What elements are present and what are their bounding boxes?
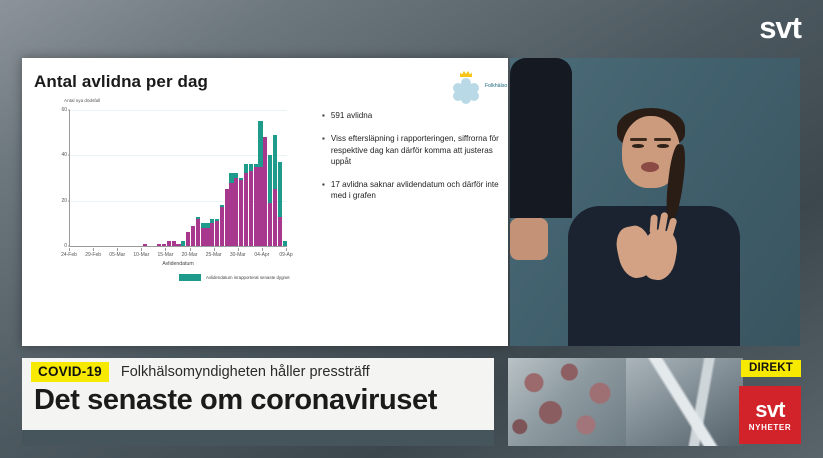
chart-bar: [283, 241, 287, 246]
coronavirus-thumbnail: [508, 358, 626, 446]
chart-bar: [162, 244, 166, 246]
folkhalsomyndigheten-logo: Folkhälso: [449, 70, 505, 104]
presentation-slide: Antal avlidna per dag Folkhälso Antal ny…: [22, 58, 508, 346]
logo-petal: [461, 94, 471, 104]
bar-segment-last-day: [244, 164, 248, 173]
bullet-marker-icon: ▪: [322, 179, 325, 202]
y-axis-tick-label: 60: [61, 107, 67, 113]
chart-bar: [186, 232, 190, 246]
chart-bar: [273, 135, 277, 246]
bar-segment-previous: [205, 228, 209, 246]
x-axis-tick-mark: [117, 248, 118, 251]
chart-legend: Avlidendatum inrapporterat senaste dygne…: [69, 274, 299, 281]
bar-segment-previous: [278, 217, 282, 246]
bar-segment-previous: [229, 183, 233, 246]
bar-segment-previous: [176, 244, 180, 246]
chart-bar: [167, 241, 171, 246]
x-axis-tick-mark: [141, 248, 142, 251]
y-axis-tick-label: 0: [64, 243, 67, 249]
bar-segment-last-day: [273, 135, 277, 189]
bar-segment-previous: [258, 167, 262, 246]
chart-bar: [239, 178, 243, 246]
bar-segment-last-day: [254, 164, 258, 166]
chart-bar: [201, 223, 205, 246]
chart-bar: [220, 205, 224, 246]
eye: [632, 144, 644, 148]
slide-bullet: ▪17 avlidna saknar avlidendatum och därf…: [322, 179, 502, 202]
y-axis-label: Antal nya dödsfall: [64, 98, 100, 103]
x-axis-tick-mark: [93, 248, 94, 251]
x-axis-tick-mark: [286, 248, 287, 251]
live-badge: DIREKT: [741, 360, 801, 377]
banner-kicker-row: COVID-19 Folkhälsomyndigheten håller pre…: [22, 358, 494, 385]
interpreter-shirt: [510, 58, 572, 218]
bar-segment-previous: [263, 137, 267, 246]
legend-swatch: [179, 274, 201, 281]
bar-segment-previous: [210, 223, 214, 246]
chart-bar: [191, 226, 195, 246]
banner-headline: Det senaste om coronaviruset: [34, 384, 437, 417]
x-axis-tick-mark: [262, 248, 263, 251]
bar-segment-previous: [191, 226, 195, 246]
eyebrow: [654, 138, 671, 141]
svt-nyheter-subtitle: NYHETER: [749, 423, 791, 432]
bar-segment-previous: [268, 203, 272, 246]
bar-segment-previous: [157, 244, 161, 246]
chart-bar: [157, 244, 161, 246]
chart-bar: [278, 162, 282, 246]
bar-segment-last-day: [278, 162, 282, 216]
slide-bullet: ▪591 avlidna: [322, 110, 502, 122]
x-axis-tick-mark: [165, 248, 166, 251]
chart-bar: [143, 244, 147, 246]
logo-wordmark: Folkhälso: [485, 83, 507, 89]
chart-bar: [181, 241, 185, 246]
x-axis-tick-label: 20-Mar: [182, 252, 198, 258]
bar-segment-last-day: [201, 223, 205, 228]
test-swab-thumbnail: [626, 358, 743, 446]
logo-flower-icon: [449, 70, 483, 102]
x-axis-tick-label: 30-Mar: [230, 252, 246, 258]
bar-segment-previous: [172, 241, 176, 246]
bar-segment-previous: [196, 219, 200, 246]
bar-segment-previous: [162, 244, 166, 246]
bar-segment-last-day: [239, 178, 243, 180]
bullet-marker-icon: ▪: [322, 133, 325, 168]
bar-segment-last-day: [258, 121, 262, 166]
bar-segment-previous: [167, 241, 171, 246]
slide-bullet-text: 17 avlidna saknar avlidendatum och därfö…: [331, 179, 502, 202]
bar-segment-previous: [225, 189, 229, 246]
bar-segment-previous: [244, 173, 248, 246]
bar-segment-previous: [254, 167, 258, 246]
finger: [650, 214, 658, 234]
bar-segment-previous: [186, 232, 190, 246]
x-axis-tick-label: 25-Mar: [206, 252, 222, 258]
chart-bar: [234, 173, 238, 246]
chart-bar: [244, 164, 248, 246]
x-axis-tick-mark: [190, 248, 191, 251]
bar-segment-previous: [220, 207, 224, 246]
slide-title: Antal avlidna per dag: [34, 72, 208, 92]
bar-segment-last-day: [181, 241, 185, 246]
x-axis-tick-label: 15-Mar: [158, 252, 174, 258]
bar-segment-last-day: [229, 173, 233, 182]
x-axis-tick-mark: [69, 248, 70, 251]
chart-bar: [172, 241, 176, 246]
chart-bar: [258, 121, 262, 246]
x-axis-ticks: 24-Feb29-Feb05-Mar10-Mar15-Mar20-Mar25-M…: [69, 248, 287, 262]
bar-segment-previous: [234, 178, 238, 246]
slide-bullet-text: Viss eftersläpning i rapporteringen, sif…: [331, 133, 502, 168]
x-axis-tick-mark: [238, 248, 239, 251]
bar-segment-last-day: [249, 164, 253, 171]
chart-bar: [229, 173, 233, 246]
chart-bar: [225, 189, 229, 246]
slide-bullet-list: ▪591 avlidna▪Viss eftersläpning i rappor…: [322, 110, 502, 213]
slide-bullet-text: 591 avlidna: [331, 110, 372, 122]
chart-plot-area: 0204060: [69, 110, 287, 247]
legend-label: Avlidendatum inrapporterat senaste dygne…: [206, 275, 290, 280]
bar-series: [70, 110, 287, 246]
bar-segment-previous: [273, 189, 277, 246]
x-axis-tick-label: 04-Apr: [254, 252, 269, 258]
bar-segment-last-day: [196, 217, 200, 219]
chart-bar: [268, 155, 272, 246]
covid-badge: COVID-19: [31, 362, 109, 382]
sign-language-interpreter-video: [510, 58, 800, 346]
x-axis-tick-label: 10-Mar: [133, 252, 149, 258]
x-axis-tick-label: 05-Mar: [109, 252, 125, 258]
x-axis-tick-label: 29-Feb: [85, 252, 101, 258]
bar-segment-previous: [143, 244, 147, 246]
deaths-per-day-chart: Antal nya dödsfall 0204060 24-Feb29-Feb0…: [36, 98, 304, 338]
slide-bullet: ▪Viss eftersläpning i rapporteringen, si…: [322, 133, 502, 168]
svt-nyheter-logo: svt NYHETER: [739, 386, 801, 444]
banner-kicker: Folkhälsomyndigheten håller pressträff: [121, 364, 370, 380]
crown-icon: [460, 70, 472, 77]
eye: [657, 144, 669, 148]
y-axis-tick-label: 20: [61, 198, 67, 204]
bar-segment-previous: [249, 171, 253, 246]
bar-segment-last-day: [210, 219, 214, 224]
bar-segment-last-day: [234, 173, 238, 178]
chart-bar: [254, 164, 258, 246]
y-axis-tick-label: 40: [61, 152, 67, 158]
bar-segment-previous: [215, 221, 219, 246]
x-axis-tick-label: 24-Feb: [61, 252, 77, 258]
lower-third-banner: COVID-19 Folkhälsomyndigheten håller pre…: [22, 358, 494, 430]
chart-bar: [176, 244, 180, 246]
chart-bar: [249, 164, 253, 246]
bar-segment-previous: [201, 228, 205, 246]
broadcast-screen: Antal avlidna per dag Folkhälso Antal ny…: [0, 0, 823, 458]
bottom-thumbnail-strip: [508, 358, 743, 446]
chart-bar: [210, 219, 214, 246]
x-axis-tick-mark: [214, 248, 215, 251]
bullet-marker-icon: ▪: [322, 110, 325, 122]
chart-bar: [215, 219, 219, 246]
banner-shadow-strip: [22, 430, 494, 446]
chart-bar: [196, 217, 200, 246]
chart-bar: [263, 137, 267, 246]
bar-segment-last-day: [205, 223, 209, 228]
bar-segment-last-day: [268, 155, 272, 203]
svt-logo: svt: [759, 12, 801, 43]
eyebrow: [630, 138, 647, 141]
bar-segment-last-day: [220, 205, 224, 207]
interpreter-neck: [510, 218, 548, 260]
interpreter-mouth: [641, 162, 659, 172]
x-axis-label: Avlidendatum: [69, 261, 287, 267]
chart-bar: [205, 223, 209, 246]
bar-segment-last-day: [215, 219, 219, 221]
x-axis-tick-label: 09-Ap: [279, 252, 292, 258]
bar-segment-previous: [239, 180, 243, 246]
svt-nyheter-wordmark: svt: [755, 399, 784, 421]
